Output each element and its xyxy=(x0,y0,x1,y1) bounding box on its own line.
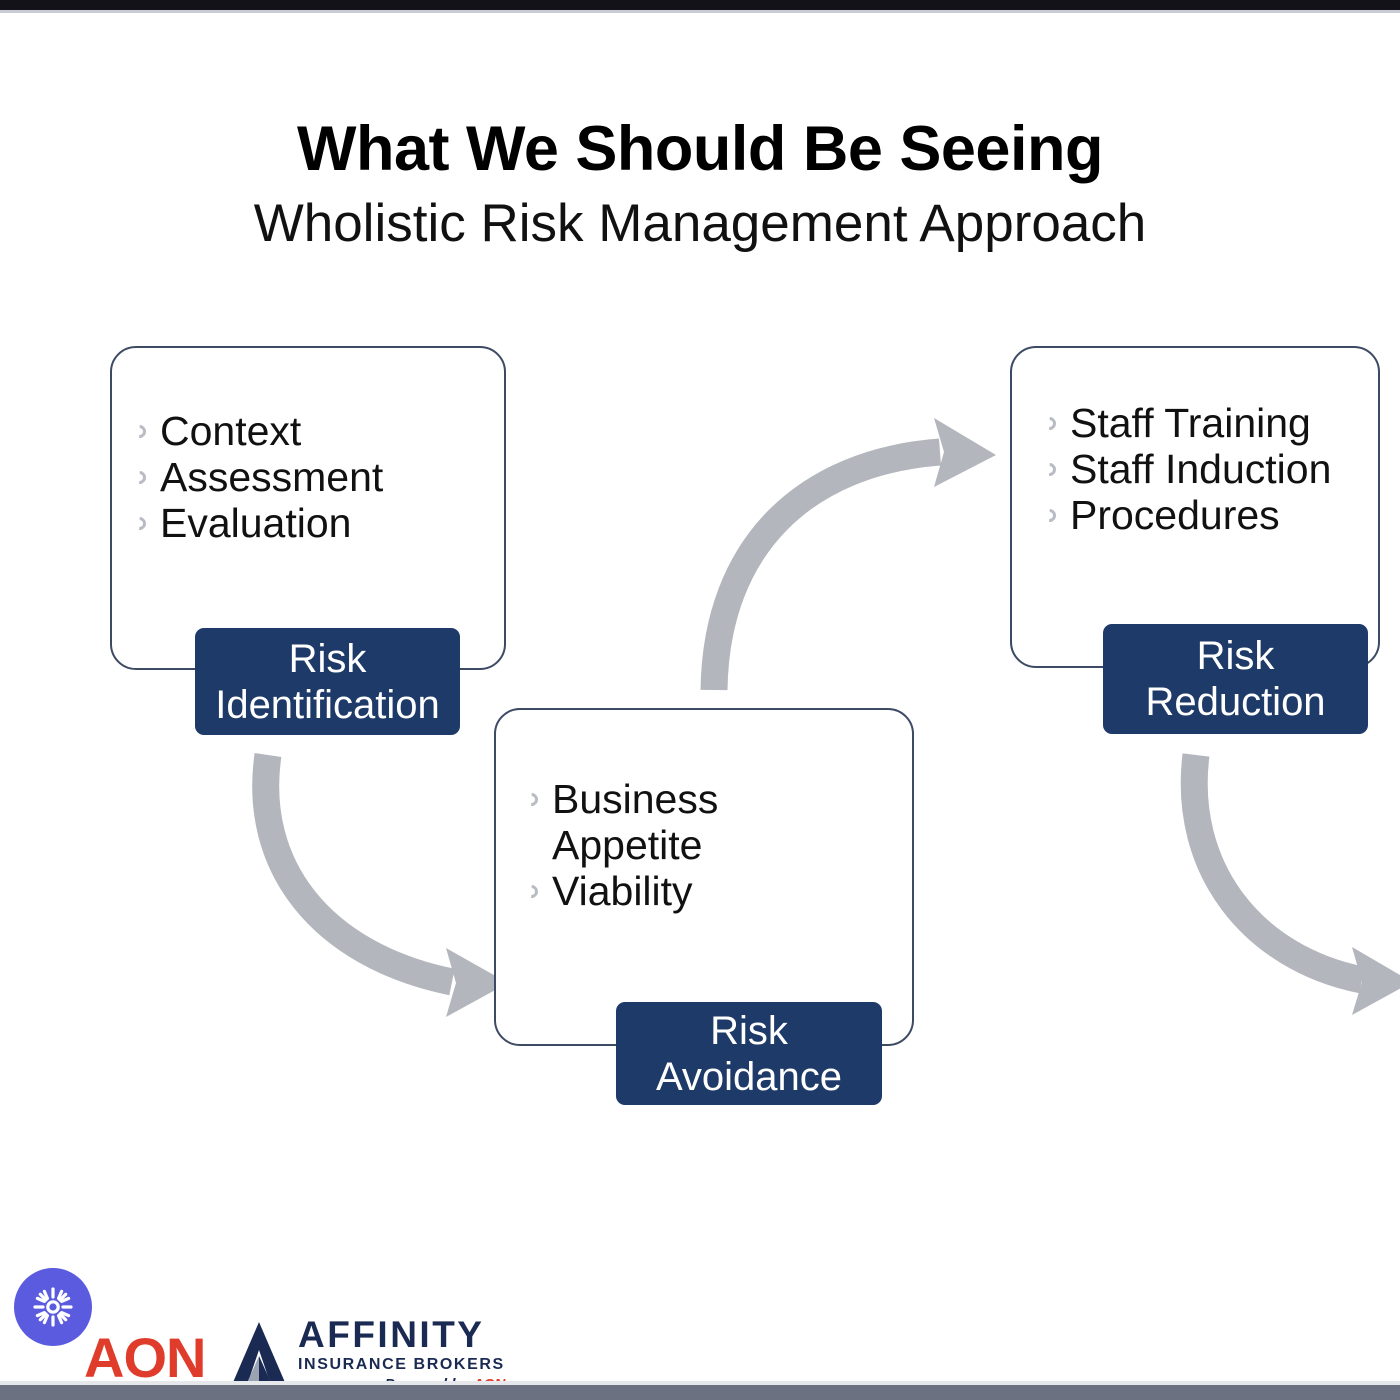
stage-2-bullet-list: Business Appetite Viability xyxy=(522,776,902,914)
chip-line-2: Avoidance xyxy=(656,1054,842,1100)
stage-box-risk-reduction[interactable]: Staff Training Staff Induction Procedure… xyxy=(1010,346,1380,668)
bullet-label: Appetite xyxy=(552,822,702,868)
chip-line-2: Identification xyxy=(215,682,440,728)
list-item: Procedures xyxy=(1040,492,1368,538)
bullet-label: Viability xyxy=(552,868,693,914)
bullet-label: Staff Training xyxy=(1070,400,1311,446)
sunburst-icon xyxy=(32,1286,74,1328)
bullet-arc-icon xyxy=(522,868,544,914)
bullet-label: Procedures xyxy=(1070,492,1280,538)
bullet-arc-icon xyxy=(130,500,152,546)
arrow-reduction-to-next xyxy=(1194,755,1400,1015)
bullet-label: Evaluation xyxy=(160,500,351,546)
chip-line-1: Risk xyxy=(289,636,367,682)
stage-box-risk-identification[interactable]: Context Assessment Evaluation xyxy=(110,346,506,670)
affinity-name: AFFINITY xyxy=(298,1316,505,1353)
list-item: Evaluation xyxy=(130,500,494,546)
slide-canvas: What We Should Be Seeing Wholistic Risk … xyxy=(0,0,1400,1400)
chip-line-2: Reduction xyxy=(1145,679,1325,725)
bullet-arc-icon xyxy=(1040,446,1062,492)
bullet-label: Staff Induction xyxy=(1070,446,1331,492)
bullet-arc-icon xyxy=(1040,492,1062,538)
list-item: Viability xyxy=(522,868,902,914)
arrow-identification-to-avoidance xyxy=(266,755,508,1017)
list-item: Assessment xyxy=(130,454,494,500)
chip-risk-reduction[interactable]: Risk Reduction xyxy=(1103,624,1368,734)
list-item: Context xyxy=(130,408,494,454)
top-chrome-divider xyxy=(0,10,1400,13)
app-badge[interactable] xyxy=(14,1268,92,1346)
bullet-arc-icon xyxy=(522,776,544,822)
chip-line-1: Risk xyxy=(1197,633,1275,679)
affinity-subtitle: INSURANCE BROKERS xyxy=(298,1357,505,1373)
list-item: Staff Induction xyxy=(1040,446,1368,492)
bullet-label: Assessment xyxy=(160,454,383,500)
top-chrome-bar xyxy=(0,0,1400,10)
arrow-avoidance-to-reduction xyxy=(714,418,996,690)
bullet-arc-icon xyxy=(130,454,152,500)
bottom-chrome-bar xyxy=(0,1385,1400,1400)
slide-subtitle: Wholistic Risk Management Approach xyxy=(0,196,1400,252)
chip-risk-avoidance[interactable]: Risk Avoidance xyxy=(616,1002,882,1105)
stage-box-risk-avoidance[interactable]: Business Appetite Viability xyxy=(494,708,914,1046)
stage-1-bullet-list: Context Assessment Evaluation xyxy=(130,408,494,546)
bullet-arc-icon xyxy=(1040,400,1062,446)
bullet-label: Business xyxy=(552,776,718,822)
chip-line-1: Risk xyxy=(710,1008,788,1054)
bullet-label: Context xyxy=(160,408,301,454)
chip-risk-identification[interactable]: Risk Identification xyxy=(195,628,460,735)
slide-title: What We Should Be Seeing xyxy=(0,118,1400,181)
bullet-arc-icon xyxy=(130,408,152,454)
list-item: Appetite xyxy=(522,822,902,868)
stage-3-bullet-list: Staff Training Staff Induction Procedure… xyxy=(1040,400,1368,538)
list-item: Staff Training xyxy=(1040,400,1368,446)
list-item: Business xyxy=(522,776,902,822)
aon-logo: AON xyxy=(84,1330,205,1386)
bullet-spacer xyxy=(522,822,544,868)
